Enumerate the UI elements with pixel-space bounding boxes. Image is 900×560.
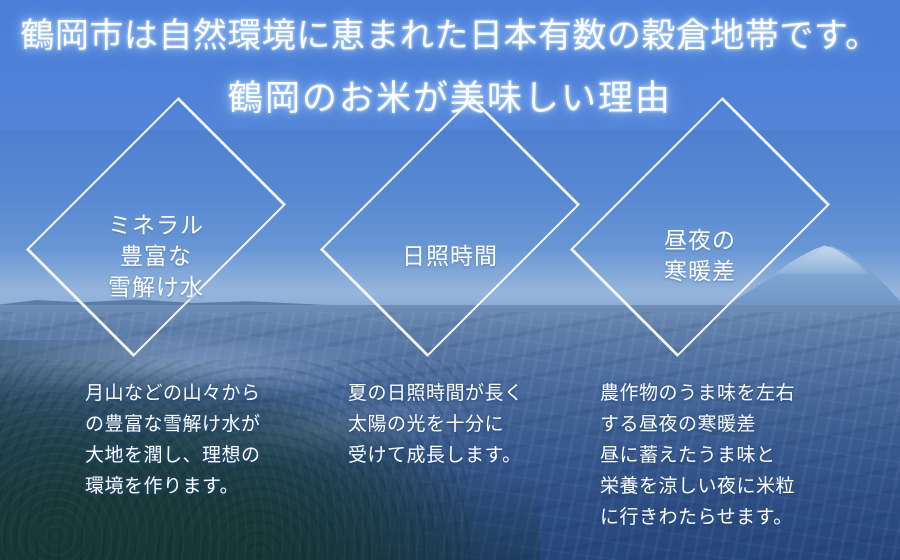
- diamond-sunshine-hours: 日照時間: [374, 151, 526, 303]
- header-band: 鶴岡市は自然環境に恵まれた日本有数の穀倉地帯です。 鶴岡のお米が美味しい理由: [0, 0, 900, 130]
- diamond-label-mineral-water: ミネラル 豊富な 雪解け水: [80, 211, 232, 304]
- header-tagline: 鶴岡市は自然環境に恵まれた日本有数の穀倉地帯です。: [0, 14, 900, 58]
- diamond-label-temperature-range: 昼夜の 寒暖差: [624, 226, 776, 288]
- description-sunshine-hours: 夏の日照時間が長く 太陽の光を十分に 受けて成長します。: [348, 378, 593, 471]
- diamond-label-sunshine-hours: 日照時間: [374, 242, 526, 273]
- diamond-mineral-water: ミネラル 豊富な 雪解け水: [80, 151, 232, 303]
- diamond-temperature-range: 昼夜の 寒暖差: [624, 151, 776, 303]
- promo-banner: 鶴岡市は自然環境に恵まれた日本有数の穀倉地帯です。 鶴岡のお米が美味しい理由 ミ…: [0, 0, 900, 560]
- page-title: 鶴岡のお米が美味しい理由: [0, 76, 900, 122]
- description-mineral-water: 月山などの山々から の豊富な雪解け水が 大地を潤し、理想の 環境を作ります。: [85, 378, 325, 502]
- description-temperature-range: 農作物のうま味を左右 する昼夜の寒暖差 昼に蓄えたうま味と 栄養を涼しい夜に米粒…: [600, 378, 860, 533]
